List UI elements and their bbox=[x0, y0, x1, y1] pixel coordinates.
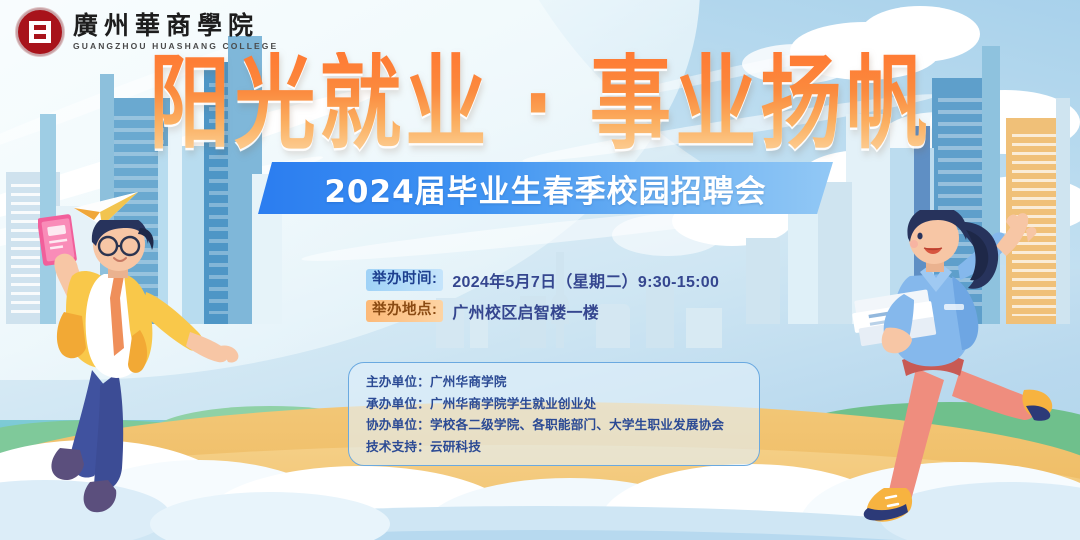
event-place-row: 举办地点: 广州校区启智楼一楼 bbox=[366, 299, 719, 323]
event-time-row: 举办时间: 2024年5月7日（星期二）9:30-15:00 bbox=[366, 268, 719, 292]
event-meta: 举办时间: 2024年5月7日（星期二）9:30-15:00 举办地点: 广州校… bbox=[366, 268, 719, 330]
female-student-body bbox=[840, 210, 1060, 530]
event-place-value: 广州校区启智楼一楼 bbox=[452, 299, 599, 323]
organizer-line: 主办单位：广州华商学院 bbox=[366, 372, 759, 394]
brand-name-cn: 廣州華商學院 bbox=[73, 13, 278, 39]
brand-logo[interactable]: 廣州華商學院 GUANGZHOU HUASHANG COLLEGE bbox=[16, 8, 278, 56]
recruitment-poster: 廣州華商學院 GUANGZHOU HUASHANG COLLEGE 阳光就业 ·… bbox=[0, 0, 1080, 540]
male-student-body bbox=[20, 220, 250, 520]
organizer-line: 承办单位：广州华商学院学生就业创业处 bbox=[366, 394, 759, 416]
female-student-illustration bbox=[840, 210, 1060, 530]
organizer-info-box: 主办单位：广州华商学院 承办单位：广州华商学院学生就业创业处 协办单位：学校各二… bbox=[348, 362, 760, 466]
male-student-illustration bbox=[20, 190, 250, 520]
page-title: 阳光就业 · 事业扬帆 bbox=[16, 52, 1064, 154]
university-seal-icon bbox=[16, 8, 64, 56]
organizer-line: 协办单位：学校各二级学院、各职能部门、大学生职业发展协会 bbox=[366, 415, 759, 437]
brand-name-en: GUANGZHOU HUASHANG COLLEGE bbox=[73, 41, 278, 51]
event-time-label: 举办时间: bbox=[366, 269, 443, 291]
event-time-value: 2024年5月7日（星期二）9:30-15:00 bbox=[452, 268, 719, 292]
organizer-line: 技术支持：云研科技 bbox=[366, 437, 759, 459]
event-subtitle-banner: 2024届毕业生春季校园招聘会 bbox=[258, 162, 833, 214]
event-place-label: 举办地点: bbox=[366, 300, 443, 322]
event-subtitle-text: 2024届毕业生春季校园招聘会 bbox=[324, 166, 766, 211]
